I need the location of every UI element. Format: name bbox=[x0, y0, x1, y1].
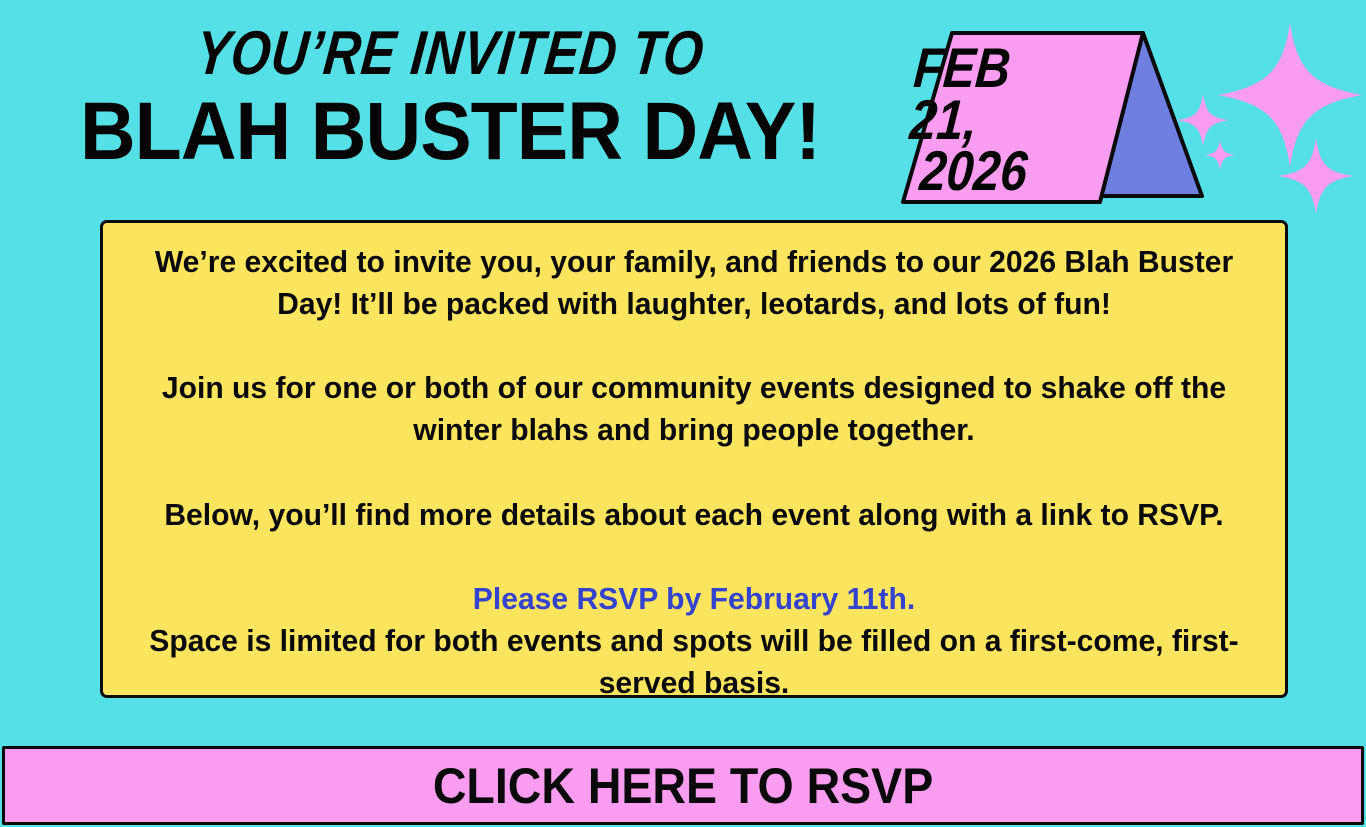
invitation-page: YOU’RE INVITED TO BLAH BUSTER DAY! FEB 2… bbox=[0, 0, 1366, 827]
rsvp-button[interactable]: CLICK HERE TO RSVP bbox=[2, 746, 1364, 825]
date-badge-pink-panel bbox=[903, 33, 1143, 202]
message-paragraph-join: Join us for one or both of our community… bbox=[141, 367, 1247, 451]
message-paragraph-space-limited: Space is limited for both events and spo… bbox=[141, 620, 1247, 704]
date-badge: FEB 21, 2026 bbox=[890, 20, 1220, 215]
date-badge-tent-shape bbox=[890, 20, 1220, 215]
headline-block: YOU’RE INVITED TO BLAH BUSTER DAY! bbox=[0, 24, 900, 173]
message-paragraph-intro: We’re excited to invite you, your family… bbox=[141, 241, 1247, 325]
header: YOU’RE INVITED TO BLAH BUSTER DAY! FEB 2… bbox=[0, 0, 1366, 210]
rsvp-button-label: CLICK HERE TO RSVP bbox=[433, 757, 933, 815]
message-paragraph-details: Below, you’ll find more details about ea… bbox=[141, 494, 1247, 536]
page-title: BLAH BUSTER DAY! bbox=[27, 91, 873, 173]
message-card: We’re excited to invite you, your family… bbox=[100, 220, 1288, 698]
message-paragraph-rsvp-deadline: Please RSVP by February 11th. bbox=[141, 578, 1247, 620]
headline-kicker: YOU’RE INVITED TO bbox=[78, 24, 822, 85]
